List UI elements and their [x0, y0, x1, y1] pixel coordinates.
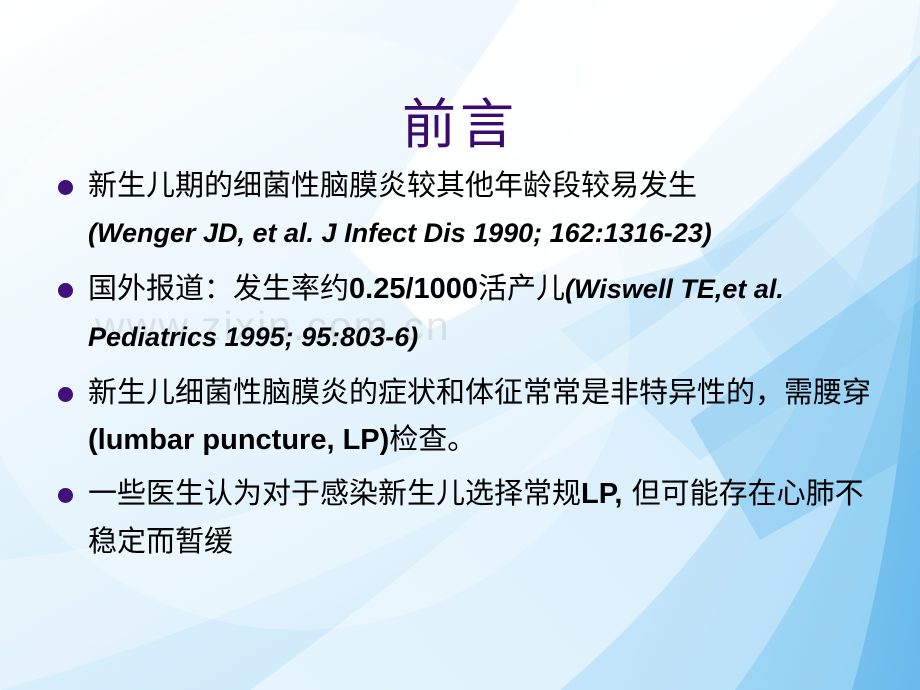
bullet-3-main-a: 新生儿细菌性脑膜炎的症状和体征常常是非特异性的，需腰穿 — [88, 375, 871, 409]
bullet-1-text: 新生儿期的细菌性脑膜炎较其他年龄段较易发生(Wenger JD, et al. … — [88, 162, 898, 257]
bullet-3-main-b: 检查。 — [389, 422, 476, 456]
bullet-3-emphasis: (lumbar puncture, LP) — [88, 424, 389, 456]
slide-title: 前言 — [0, 94, 920, 156]
bullet-4-main-a: 一些医生认为对于感染新生儿选择常规 — [88, 476, 581, 510]
bullet-4-text: 一些医生认为对于感染新生儿选择常规LP, 但可能存在心肺不稳定而暂缓 — [88, 470, 878, 565]
bullet-dot-icon — [58, 283, 73, 298]
bullet-2-text: 国外报道：发生率约0.25/1000活产儿(Wiswell TE,et al. … — [88, 265, 888, 361]
bullet-2-main-b: 活产儿 — [478, 271, 565, 305]
bullet-4-emphasis: LP, — [581, 478, 622, 510]
list-item: 新生儿细菌性脑膜炎的症状和体征常常是非特异性的，需腰穿(lumbar punct… — [44, 369, 892, 464]
bullet-dot-icon — [58, 180, 73, 195]
bullet-dot-icon — [58, 488, 73, 503]
bullet-dot-icon — [58, 387, 73, 402]
bullet-2-main-a: 国外报道：发生率约 — [88, 271, 349, 305]
bullet-1-citation: (Wenger JD, et al. J Infect Dis 1990; 16… — [88, 218, 712, 248]
slide-canvas: www.zixin.com.cn 前言 新生儿期的细菌性脑膜炎较其他年龄段较易发… — [0, 0, 920, 690]
list-item: 国外报道：发生率约0.25/1000活产儿(Wiswell TE,et al. … — [44, 265, 892, 361]
bullet-3-text: 新生儿细菌性脑膜炎的症状和体征常常是非特异性的，需腰穿(lumbar punct… — [88, 369, 893, 464]
list-item: 新生儿期的细菌性脑膜炎较其他年龄段较易发生(Wenger JD, et al. … — [44, 162, 892, 257]
list-item: 一些医生认为对于感染新生儿选择常规LP, 但可能存在心肺不稳定而暂缓 — [44, 470, 892, 565]
bullet-2-emphasis: 0.25/1000 — [349, 273, 478, 305]
bullet-1-main: 新生儿期的细菌性脑膜炎较其他年龄段较易发生 — [88, 168, 697, 202]
bullet-list: 新生儿期的细菌性脑膜炎较其他年龄段较易发生(Wenger JD, et al. … — [44, 162, 892, 577]
